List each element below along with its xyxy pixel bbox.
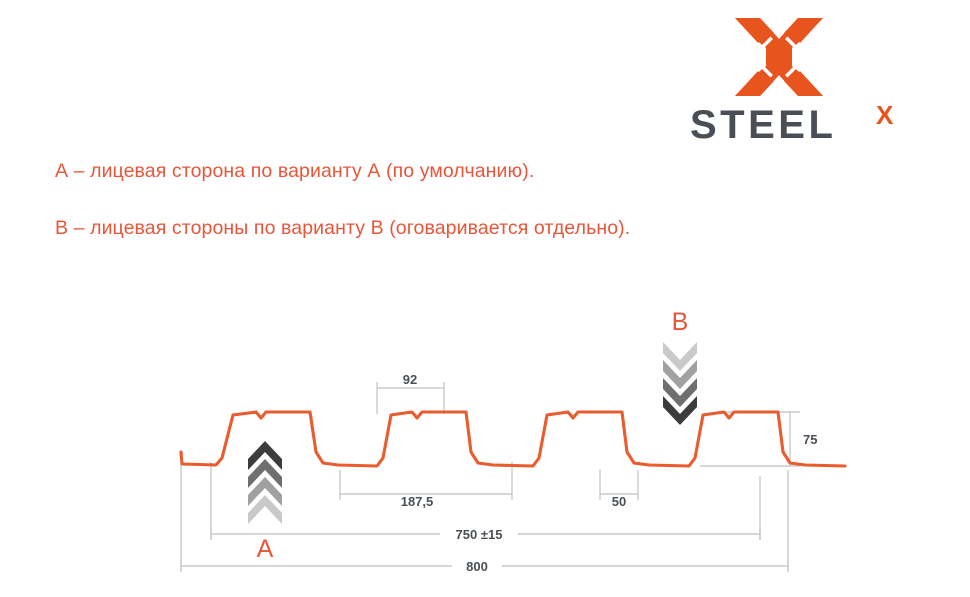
- dim-75-label: 75: [803, 432, 817, 447]
- marker-a: A: [248, 441, 282, 563]
- profile-technical-drawing: A B 92 187,5 50 750 ±15 800 75: [0, 0, 970, 597]
- dim-750-label: 750 ±15: [456, 527, 503, 542]
- marker-b-chevron-icon: [663, 342, 697, 425]
- marker-a-label: A: [257, 535, 274, 563]
- dim-50-label: 50: [612, 494, 626, 509]
- dim-92-label: 92: [403, 372, 417, 387]
- dim-800-label: 800: [466, 559, 488, 574]
- dim-187-5-label: 187,5: [401, 494, 434, 509]
- marker-b-label: B: [672, 308, 689, 336]
- marker-a-chevron-icon: [248, 441, 282, 524]
- marker-b: B: [663, 308, 697, 425]
